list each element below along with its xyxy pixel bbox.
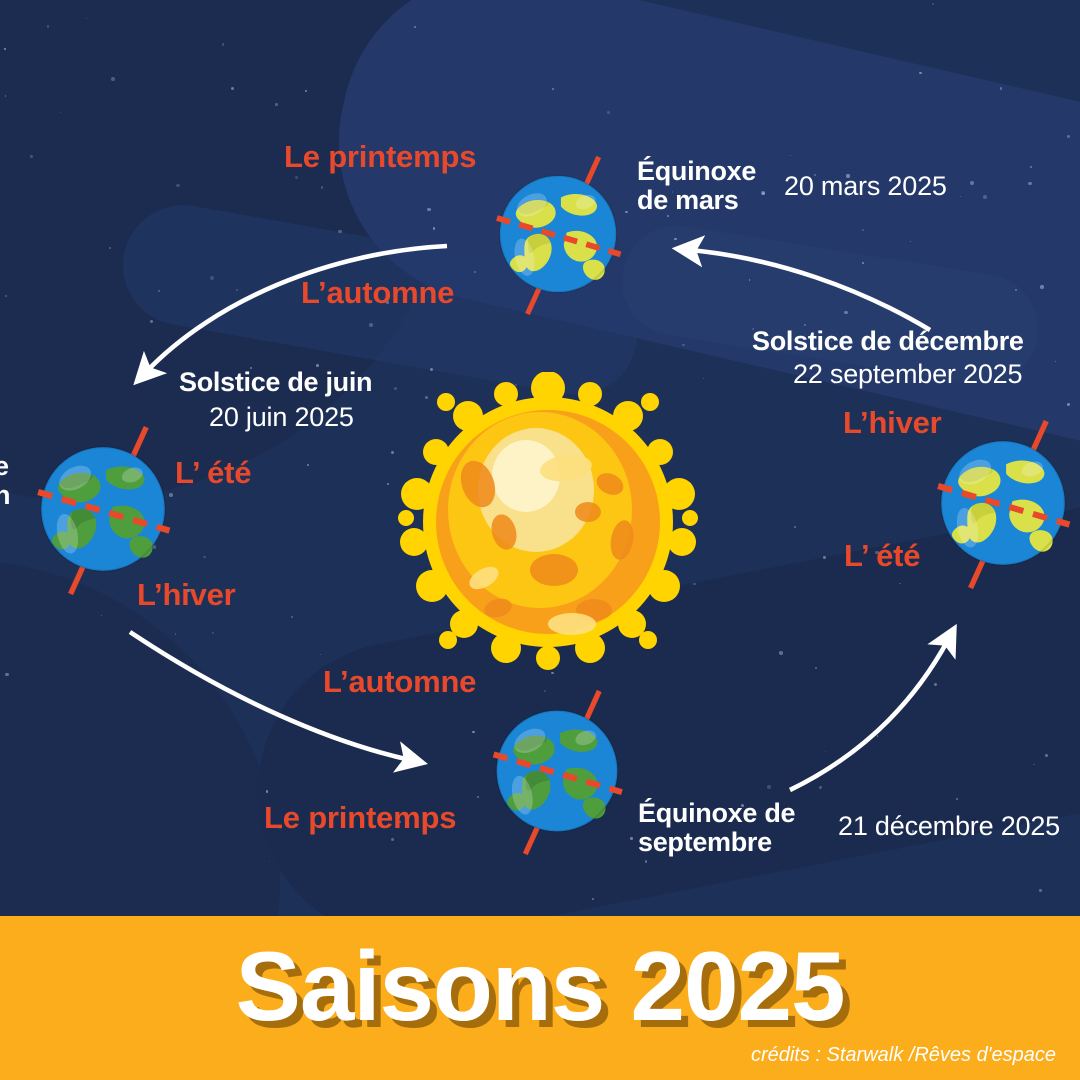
event-label-solstice-juin: Solstice de juin [179,368,372,397]
season-label-bottom-printemps: Le printemps [264,802,456,835]
star [430,368,433,371]
star [150,320,153,323]
star [338,230,341,233]
star [899,583,900,584]
star [5,673,8,676]
event-label-line1: Équinoxe de [638,799,795,828]
star [4,48,5,49]
event-label-equinoxe-septembre: Équinoxe de septembre [638,799,795,856]
star [47,25,49,27]
star [427,208,431,212]
earth-top [478,154,638,314]
star [307,464,309,466]
star [291,616,293,618]
season-label-right-ete: L’ été [844,540,920,573]
season-label-top-automne: L’automne [301,277,454,310]
star [749,279,750,280]
sun-icon [398,372,698,672]
season-label-bottom-automne: L’automne [323,666,476,699]
star [175,633,177,635]
star [176,184,179,187]
infographic-canvas: Le printemps L’automne Équinoxe de mars … [0,0,1080,1080]
date-label-solstice-juin: 20 juin 2025 [209,403,354,432]
star [592,898,594,900]
event-label-line2: septembre [638,828,795,857]
date-label-equinoxe-mars: 20 mars 2025 [784,172,947,201]
star [794,526,796,528]
star [30,155,33,158]
star [111,77,115,81]
star [222,43,224,45]
star [320,654,321,655]
star [212,632,214,634]
star [387,483,389,485]
star [682,344,684,346]
star [1040,285,1044,289]
event-label-solstice-decembre: Solstice de décembre [752,327,1024,356]
star [266,790,269,793]
star [919,72,921,74]
date-label-solstice-decembre: 22 september 2025 [793,360,1022,389]
season-label-top-printemps: Le printemps [284,141,476,174]
star [767,785,771,789]
star [607,111,610,114]
star [645,860,648,863]
star [761,191,765,195]
star [1067,135,1070,138]
footer-banner: Saisons 2025 crédits : Starwalk /Rêves d… [0,916,1080,1080]
star [275,103,278,106]
star [667,215,669,217]
credits-text: crédits : Starwalk /Rêves d'espace [751,1044,1056,1067]
star [1067,403,1070,406]
event-label-line2: de mars [637,186,756,215]
star [1039,889,1042,892]
season-label-left-ete: L’ été [175,457,251,490]
star [823,556,826,559]
season-label-right-hiver: L’hiver [843,407,942,440]
star [815,667,817,669]
background-blob-bottom-left [0,560,280,918]
star [552,88,554,90]
star [825,751,826,752]
event-label-clipped-left: e n [0,452,10,509]
earth-bottom [474,688,640,854]
star [779,651,783,655]
star [203,556,206,559]
event-label-line2: n [0,481,10,510]
star [1028,182,1031,185]
date-label-equinoxe-septembre: 21 décembre 2025 [838,812,1060,841]
event-label-line1: e [0,452,10,481]
star [970,181,974,185]
star [210,276,214,280]
event-label-equinoxe-mars: Équinoxe de mars [637,157,756,214]
star [703,378,704,379]
star [394,387,397,390]
season-label-left-hiver: L’hiver [137,579,236,612]
earth-right [918,418,1080,588]
star [1055,361,1056,362]
star [109,247,111,249]
star [414,26,416,28]
page-title: Saisons 2025 [0,930,1080,1043]
star [474,271,476,273]
star [932,3,934,5]
star [158,290,160,292]
star [1033,764,1034,765]
star [956,798,958,800]
earth-left [18,424,188,594]
star [433,227,436,230]
star [391,451,394,454]
event-label-line1: Équinoxe [637,157,756,186]
